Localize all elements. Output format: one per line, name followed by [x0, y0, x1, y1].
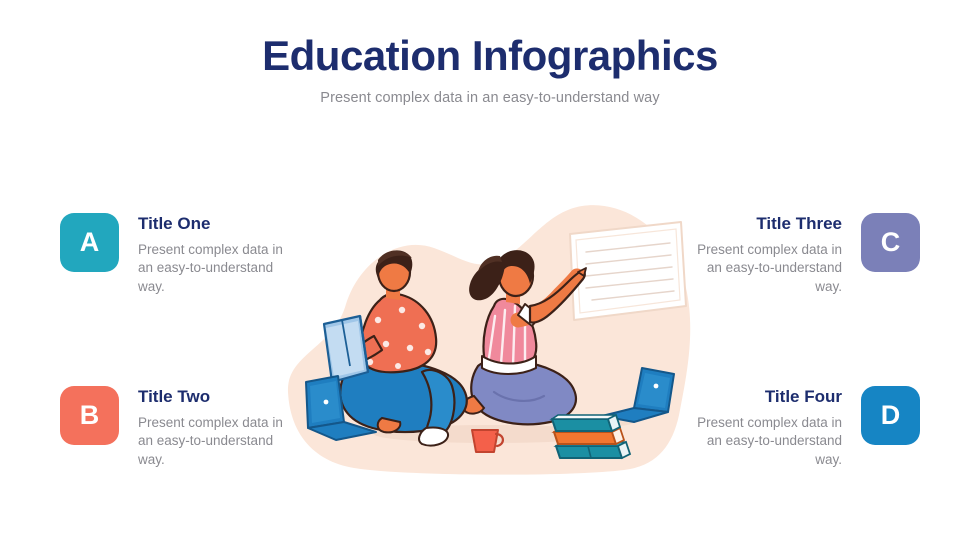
badge-c: C	[861, 213, 920, 272]
item-description-c: Present complex data in an easy-to-under…	[692, 241, 842, 297]
whiteboard-sheet	[570, 222, 686, 320]
item-description-d: Present complex data in an easy-to-under…	[692, 414, 842, 470]
header: Education Infographics Present complex d…	[0, 34, 980, 106]
page-title: Education Infographics	[0, 34, 980, 78]
info-text-d: Title Four Present complex data in an ea…	[692, 386, 842, 470]
badge-d: D	[861, 386, 920, 445]
item-title-a: Title One	[138, 215, 288, 234]
slide-canvas: Education Infographics Present complex d…	[0, 0, 980, 551]
page-subtitle: Present complex data in an easy-to-under…	[0, 90, 980, 106]
badge-letter-a: A	[80, 229, 100, 256]
item-title-d: Title Four	[692, 388, 842, 407]
info-text-a: Title One Present complex data in an eas…	[138, 213, 288, 297]
book-stack	[552, 415, 630, 458]
item-title-b: Title Two	[138, 388, 288, 407]
students-studying-illustration	[282, 196, 698, 486]
info-text-b: Title Two Present complex data in an eas…	[138, 386, 288, 470]
item-title-c: Title Three	[692, 215, 842, 234]
badge-letter-b: B	[80, 402, 100, 429]
item-description-b: Present complex data in an easy-to-under…	[138, 414, 288, 470]
badge-letter-d: D	[881, 402, 901, 429]
open-book	[324, 316, 368, 382]
badge-a: A	[60, 213, 119, 272]
badge-letter-c: C	[881, 229, 901, 256]
item-description-a: Present complex data in an easy-to-under…	[138, 241, 288, 297]
badge-b: B	[60, 386, 119, 445]
info-text-c: Title Three Present complex data in an e…	[692, 213, 842, 297]
